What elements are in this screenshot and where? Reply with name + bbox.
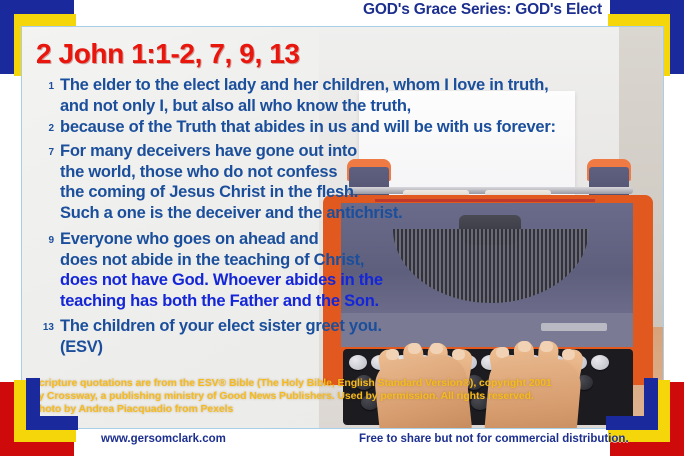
- verse-line: The children of your elect sister greet …: [60, 316, 382, 337]
- verse-line: the world, those who do not confess: [60, 162, 402, 183]
- chevron-blue-vertical: [644, 378, 658, 430]
- footer-bar: www.gersomclark.com Free to share but no…: [21, 429, 664, 455]
- verse-line: For many deceivers have gone out into: [60, 141, 402, 162]
- verse-number: 1: [32, 81, 54, 92]
- verse-line: Everyone who goes on ahead and: [60, 229, 383, 250]
- attribution-block: Scripture quotations are from the ESV® B…: [32, 377, 657, 416]
- footer-website[interactable]: www.gersomclark.com: [101, 433, 226, 445]
- chevron-red-vertical: [668, 382, 684, 456]
- verse-lines: because of the Truth that abides in us a…: [60, 117, 556, 138]
- verse-number: 7: [32, 147, 54, 158]
- verse-lines: Everyone who goes on ahead and does not …: [60, 229, 383, 311]
- scripture-text-block: 2 John 1:1-2, 7, 9, 13 1 The elder to th…: [22, 27, 663, 428]
- attribution-line: by Crossway, a publishing ministry of Go…: [32, 390, 657, 403]
- attribution-line: Photo by Andrea Piacquadio from Pexels: [32, 403, 657, 416]
- verse-number: 2: [32, 123, 54, 134]
- footer-license: Free to share but not for commercial dis…: [359, 433, 629, 445]
- verse-line: Such a one is the deceiver and the antic…: [60, 203, 402, 224]
- verse-lines: The children of your elect sister greet …: [60, 316, 382, 357]
- chevron-blue-vertical: [26, 378, 40, 430]
- chevron-blue-vertical: [668, 0, 684, 74]
- verse-line: The elder to the elect lady and her chil…: [60, 75, 548, 96]
- attribution-line: Scripture quotations are from the ESV® B…: [32, 377, 657, 390]
- verse-lines: The elder to the elect lady and her chil…: [60, 75, 548, 116]
- verse-number: 13: [32, 322, 54, 333]
- verse-line: does not have God. Whoever abides in the: [60, 270, 383, 291]
- verse-line: teaching has both the Father and the Son…: [60, 291, 383, 312]
- verse-line: (ESV): [60, 337, 382, 358]
- verse-number: 9: [32, 235, 54, 246]
- verse-line: and not only I, but also all who know th…: [60, 96, 548, 117]
- verse-line: the coming of Jesus Christ in the flesh.: [60, 182, 402, 203]
- series-title: GOD's Grace Series: GOD's Elect: [363, 1, 602, 19]
- page-title: 2 John 1:1-2, 7, 9, 13: [36, 38, 300, 70]
- verse-line: because of the Truth that abides in us a…: [60, 117, 556, 138]
- verse-line: does not abide in the teaching of Christ…: [60, 250, 383, 271]
- scripture-slide: GOD's Grace Series: GOD's Elect: [0, 0, 684, 456]
- content-panel: 2 John 1:1-2, 7, 9, 13 1 The elder to th…: [21, 26, 664, 429]
- verse-lines: For many deceivers have gone out into th…: [60, 141, 402, 223]
